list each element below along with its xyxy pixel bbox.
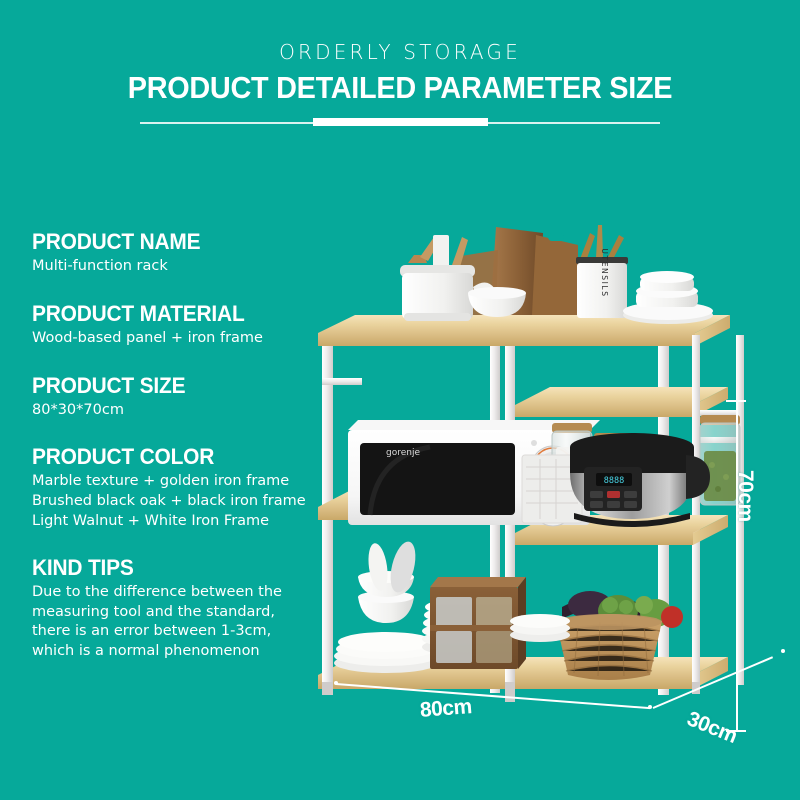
spec-body-line: Multi-function rack	[32, 257, 332, 277]
frame-brace-upper-left	[322, 378, 362, 385]
spec-item-product-name: PRODUCT NAME Multi-function rack	[32, 230, 332, 277]
shelf-right-lower-edge	[515, 533, 693, 545]
header-eyebrow: ORDERLY STORAGE	[0, 40, 800, 64]
spec-item-kind-tips: KIND TIPS Due to the difference between …	[32, 556, 332, 661]
shelf-top-edge	[318, 333, 695, 346]
dimension-dot-depth-end	[781, 649, 785, 653]
utensils-canister: UTENSILS	[576, 225, 628, 318]
frame-post-front-left-upper	[322, 346, 333, 511]
spec-heading: PRODUCT MATERIAL	[32, 302, 317, 326]
spec-item-product-size: PRODUCT SIZE 80*30*70cm	[32, 374, 332, 421]
spec-body-line: which is a normal phenomenon	[32, 642, 332, 662]
spec-body-line: measuring tool and the standard,	[32, 603, 332, 623]
spec-item-product-material: PRODUCT MATERIAL Wood-based panel + iron…	[32, 302, 332, 349]
dimension-tick-height-bottom	[726, 730, 746, 732]
spec-body-line: Marble texture + golden iron frame	[32, 472, 332, 492]
rack-svg: UTENSILS gorenje	[300, 215, 800, 715]
tomato	[661, 606, 683, 628]
header-divider-bar	[313, 118, 488, 126]
dimension-tick-height-top	[726, 400, 746, 402]
spec-body-line: Light Walnut + White Iron Frame	[32, 512, 332, 532]
page-title: PRODUCT DETAILED PARAMETER SIZE	[28, 70, 772, 106]
dimension-line-height	[736, 400, 738, 730]
dimension-label-width: 80cm	[419, 695, 472, 723]
pressure-cooker: 8888	[570, 433, 710, 527]
spec-body-line: Due to the difference between the	[32, 583, 332, 603]
spec-body-line: 80*30*70cm	[32, 401, 332, 421]
product-illustration: UTENSILS gorenje	[300, 215, 800, 715]
spec-heading: PRODUCT NAME	[32, 230, 317, 254]
foot-mid	[505, 682, 515, 702]
spec-body: Marble texture + golden iron frame Brush…	[32, 472, 332, 531]
ceramic-jar-with-utensils	[400, 235, 475, 321]
frame-post-front-left-lower	[322, 520, 333, 682]
spec-body: Multi-function rack	[32, 257, 332, 277]
plate-stack-top	[623, 271, 713, 324]
foot-left	[322, 682, 333, 695]
cooker-display-text: 8888	[604, 476, 624, 486]
spec-heading: KIND TIPS	[32, 556, 317, 580]
spec-body: 80*30*70cm	[32, 401, 332, 421]
spec-heading: PRODUCT SIZE	[32, 374, 317, 398]
spec-body-line: Brushed black oak + black iron frame	[32, 492, 332, 512]
spec-body-line: Wood-based panel + iron frame	[32, 329, 332, 349]
spec-list: PRODUCT NAME Multi-function rack PRODUCT…	[32, 230, 332, 687]
frame-post-right-front-lower	[692, 545, 700, 687]
dimension-label-height: 70cm	[733, 470, 757, 522]
shelf-right-upper-edge	[515, 405, 693, 417]
spec-body: Due to the difference between the measur…	[32, 583, 332, 661]
spec-body-line: there is an error between 1-3cm,	[32, 622, 332, 642]
spec-body: Wood-based panel + iron frame	[32, 329, 332, 349]
spec-item-product-color: PRODUCT COLOR Marble texture + golden ir…	[32, 445, 332, 531]
plate-stack-behind-basket	[510, 614, 570, 642]
spec-heading: PRODUCT COLOR	[32, 445, 317, 469]
microwave-brand-label: gorenje	[386, 448, 420, 458]
bowl-stack	[334, 539, 438, 673]
utensils-canister-text: UTENSILS	[600, 248, 609, 297]
dimension-dot-width-end	[648, 705, 652, 709]
page-header: ORDERLY STORAGE PRODUCT DETAILED PARAMET…	[0, 0, 800, 140]
dimension-dot-width-start	[334, 681, 338, 685]
